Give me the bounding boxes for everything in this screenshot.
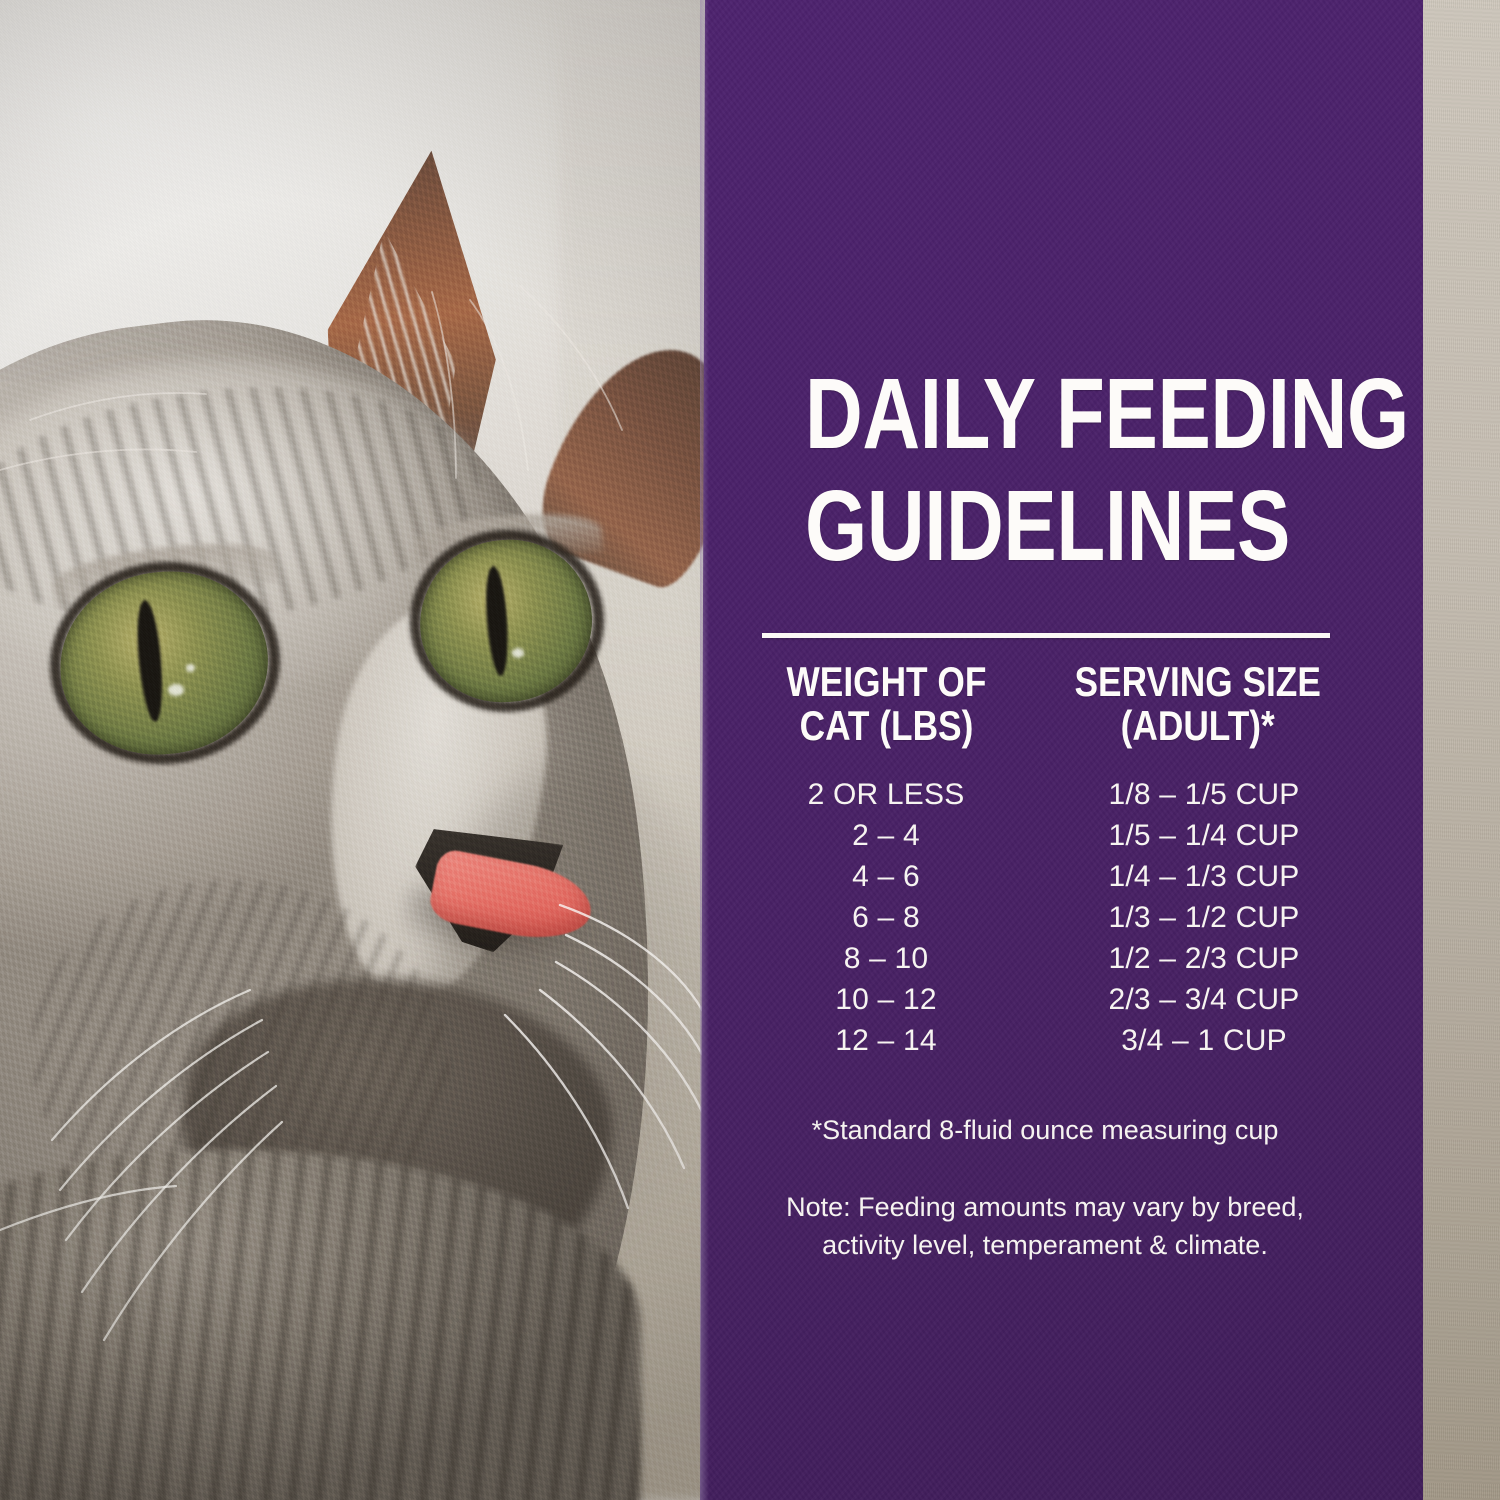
- column-header-serving-line1: SERVING SIZE: [1074, 660, 1320, 704]
- table-row: 2 OR LESS 1/8 – 1/5 CUP: [745, 774, 1345, 815]
- cell-serving: 2/3 – 3/4 CUP: [1049, 983, 1345, 1017]
- feeding-table-header-row: WEIGHT OF CAT (LBS) SERVING SIZE (ADULT)…: [745, 660, 1345, 748]
- feeding-guidelines-graphic: DAILY FEEDING GUIDELINES WEIGHT OF CAT (…: [0, 0, 1500, 1500]
- cat-right-eye-glint: [512, 648, 524, 658]
- cell-weight: 2 OR LESS: [745, 778, 1049, 812]
- footnote-note-line2: activity level, temperament & climate.: [745, 1226, 1345, 1264]
- footnote-note-line1: Note: Feeding amounts may vary by breed,: [745, 1188, 1345, 1226]
- cat-left-eye-glint-small: [186, 664, 195, 672]
- table-row: 2 – 4 1/5 – 1/4 CUP: [745, 815, 1345, 856]
- title-divider-rule: [762, 633, 1330, 638]
- cell-serving: 3/4 – 1 CUP: [1049, 1024, 1345, 1058]
- cat-illustration: [0, 0, 712, 1500]
- cell-weight: 12 – 14: [745, 1024, 1049, 1058]
- cell-serving: 1/3 – 1/2 CUP: [1049, 901, 1345, 935]
- column-header-weight: WEIGHT OF CAT (LBS): [769, 660, 1017, 748]
- column-header-weight-line1: WEIGHT OF: [769, 660, 1005, 704]
- page-title-line2: GUIDELINES: [805, 470, 1285, 582]
- cell-serving: 1/4 – 1/3 CUP: [1049, 860, 1345, 894]
- cell-weight: 4 – 6: [745, 860, 1049, 894]
- footnote-note: Note: Feeding amounts may vary by breed,…: [745, 1188, 1345, 1264]
- table-row: 8 – 10 1/2 – 2/3 CUP: [745, 938, 1345, 979]
- feeding-table-body: 2 OR LESS 1/8 – 1/5 CUP 2 – 4 1/5 – 1/4 …: [745, 774, 1345, 1061]
- cell-weight: 6 – 8: [745, 901, 1049, 935]
- page-title-line1: DAILY FEEDING: [805, 358, 1285, 470]
- wall-grain-texture: [1410, 0, 1500, 1500]
- cell-weight: 8 – 10: [745, 942, 1049, 976]
- panel-content: DAILY FEEDING GUIDELINES WEIGHT OF CAT (…: [745, 0, 1345, 1500]
- cell-serving: 1/8 – 1/5 CUP: [1049, 778, 1345, 812]
- table-row: 4 – 6 1/4 – 1/3 CUP: [745, 856, 1345, 897]
- feeding-table: WEIGHT OF CAT (LBS) SERVING SIZE (ADULT)…: [745, 660, 1345, 1061]
- column-header-serving-line2: (ADULT)*: [1074, 704, 1320, 748]
- table-row: 10 – 12 2/3 – 3/4 CUP: [745, 979, 1345, 1020]
- cell-weight: 2 – 4: [745, 819, 1049, 853]
- footnote-asterisk: *Standard 8-fluid ounce measuring cup: [745, 1114, 1345, 1146]
- cell-weight: 10 – 12: [745, 983, 1049, 1017]
- cell-serving: 1/2 – 2/3 CUP: [1049, 942, 1345, 976]
- cat-left-eye-glint: [168, 684, 184, 696]
- table-row: 6 – 8 1/3 – 1/2 CUP: [745, 897, 1345, 938]
- cat-photo: [0, 0, 712, 1500]
- cell-serving: 1/5 – 1/4 CUP: [1049, 819, 1345, 853]
- page-title: DAILY FEEDING GUIDELINES: [805, 358, 1285, 582]
- right-wall-strip: [1410, 0, 1500, 1500]
- column-header-serving: SERVING SIZE (ADULT)*: [1064, 660, 1320, 748]
- column-header-weight-line2: CAT (LBS): [769, 704, 1005, 748]
- table-row: 12 – 14 3/4 – 1 CUP: [745, 1020, 1345, 1061]
